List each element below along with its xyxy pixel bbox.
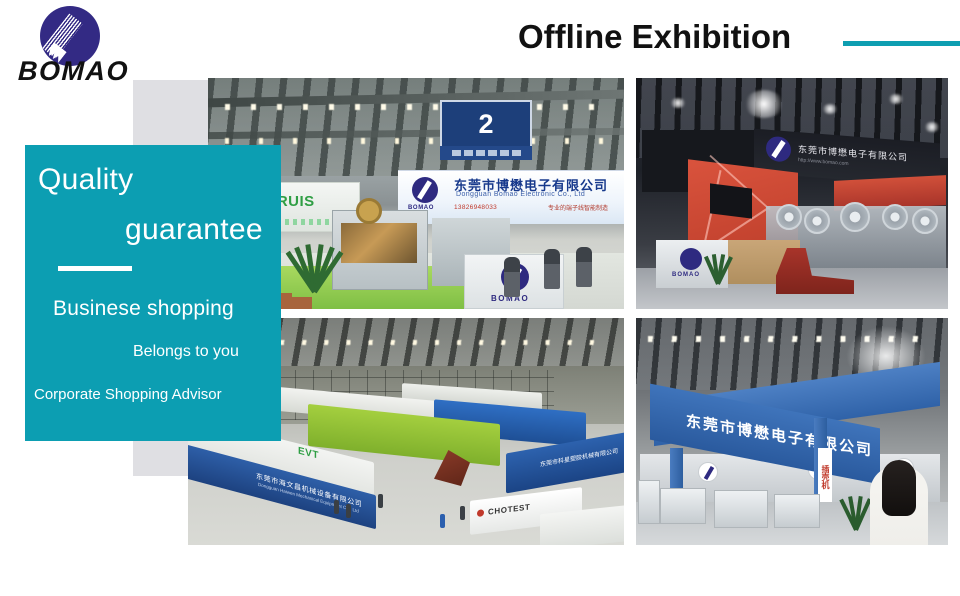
hall-number-sign: 2 (440, 100, 532, 148)
visitor-figure (460, 506, 465, 520)
wire-machine (714, 490, 768, 528)
ceiling-lamp (888, 94, 904, 104)
machine-reel-icon (912, 208, 938, 234)
chotest-logo-icon (477, 509, 484, 517)
visitor-hair (882, 460, 916, 516)
potted-plant (692, 246, 742, 292)
evt-brand-name: EVT (298, 445, 319, 461)
bomao-logo-icon (698, 462, 718, 482)
brand-logo-block: BOMAO (18, 4, 138, 82)
wire-machine (638, 480, 660, 524)
ceiling-lights-2 (225, 138, 608, 144)
page-title: Offline Exhibition (518, 18, 791, 56)
potted-plant (272, 224, 356, 304)
pillar-product-sign: 插壳机 (818, 448, 832, 504)
exhibition-photo-top-right: 东莞市博懋电子有限公司 http://www.bomao.com BOMAO (636, 78, 948, 309)
machine-reel-icon (804, 208, 830, 234)
gray-backdrop-panel-top (133, 80, 209, 146)
quality-guarantee-callout: Quality guarantee Businese shopping Belo… (25, 145, 281, 441)
visitor-figure (334, 500, 339, 514)
ceiling-lamp (670, 98, 686, 108)
bomao-logo-icon (766, 136, 791, 163)
exhibition-photo-bottom-right: 东莞市博懋电子有限公司 插壳机 (636, 318, 948, 545)
callout-line-belongs-to-you: Belongs to you (133, 343, 239, 361)
callout-divider (58, 266, 132, 271)
callout-line-business-shopping: Businese shopping (53, 297, 234, 321)
chotest-brand-name: CHOTEST (488, 502, 530, 516)
ceiling-lamp (924, 122, 940, 132)
banner-company-en: Dongguan Bomao Electronic Co., Ltd (456, 191, 585, 198)
ceiling-lights (225, 104, 608, 110)
ceiling-lamp (744, 90, 784, 118)
plant-pot-2 (290, 297, 312, 309)
wire-machine (660, 488, 706, 524)
visitor-figure (440, 514, 445, 528)
wall-mounted-screen (710, 183, 752, 218)
visitor-figure (346, 504, 351, 518)
visitor-figure (576, 247, 592, 287)
ceiling-lamp (822, 104, 838, 114)
callout-line-quality: Quality (38, 163, 133, 197)
machine-reel-icon (840, 202, 870, 232)
kexing-name-cn: 东莞市科星塑胶机械有限公司 (540, 446, 618, 469)
callout-line-corporate-advisor: Corporate Shopping Advisor (34, 386, 222, 403)
brand-name: BOMAO (17, 56, 143, 87)
banner-tagline: 专业的端子线智能制造 (548, 203, 608, 212)
visitor-figure (504, 257, 520, 297)
banner-phone: 13826948033 (454, 204, 497, 211)
wire-reel-icon (356, 198, 382, 224)
wire-machine (774, 494, 820, 528)
visitor-figure (378, 494, 383, 508)
bomao-logo-icon (412, 177, 438, 203)
hall-sign-subpanel (440, 146, 532, 160)
visitor-figure (544, 249, 560, 289)
bomao-booth-banner: BOMAO 东莞市博懋电子有限公司 Dongguan Bomao Electro… (398, 170, 624, 224)
overhead-banner-url: http://www.bomao.com (798, 157, 849, 167)
machine-reel-icon (776, 204, 802, 230)
machine-reel-icon (882, 204, 908, 230)
title-accent-rule (843, 41, 960, 46)
callout-line-guarantee: guarantee (125, 213, 263, 247)
